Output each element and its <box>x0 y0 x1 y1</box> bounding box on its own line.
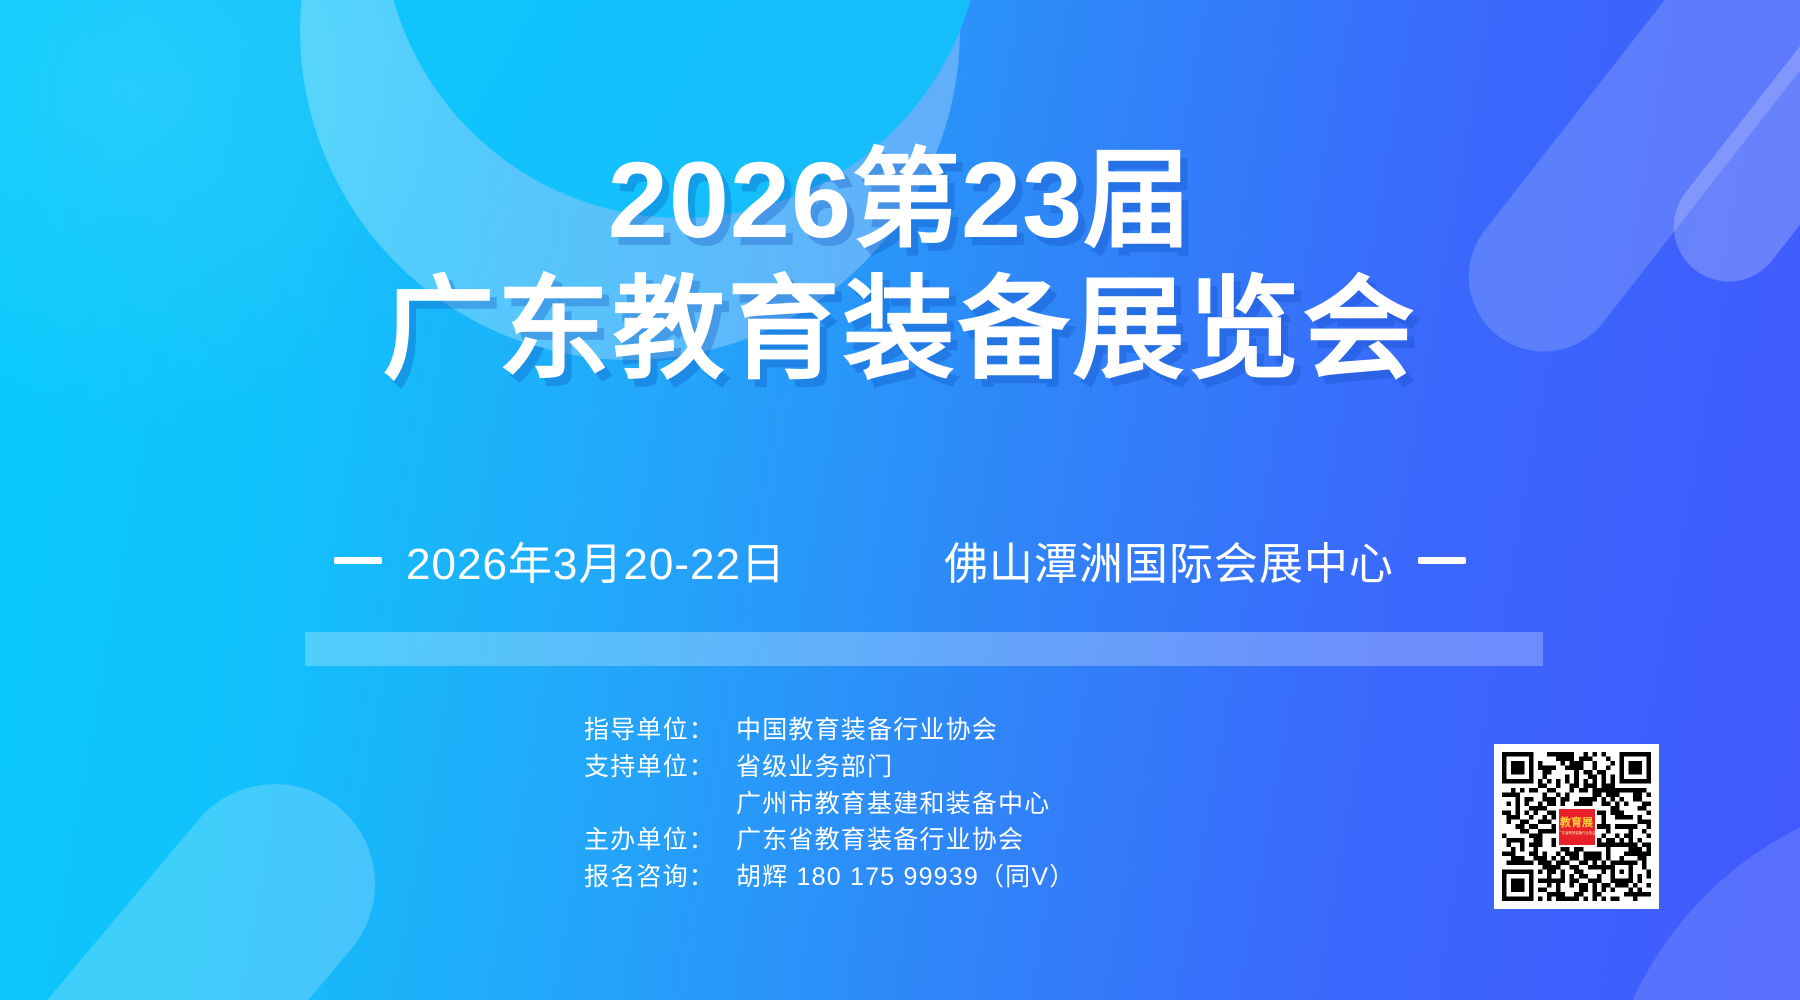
info-row-contact: 报名咨询： 胡辉 180 175 99939（同V） <box>584 859 1075 896</box>
qr-code[interactable]: 教育展 广东省教育装备行业协会 <box>1494 744 1659 909</box>
event-venue: 佛山潭洲国际会展中心 <box>944 528 1394 592</box>
info-label-host: 主办单位： <box>584 822 736 859</box>
info-label-contact: 报名咨询： <box>584 859 736 896</box>
dash-left-decoration <box>334 557 382 564</box>
accent-bar-decoration <box>305 632 1543 666</box>
info-value-guidance: 中国教育装备行业协会 <box>736 712 998 749</box>
organizer-info-block: 指导单位： 中国教育装备行业协会 支持单位： 省级业务部门 广州市教育基建和装备… <box>584 712 1075 896</box>
qr-logo-text: 教育展 <box>1560 818 1593 829</box>
info-row-guidance: 指导单位： 中国教育装备行业协会 <box>584 712 1075 749</box>
info-value-support: 省级业务部门 <box>736 749 893 786</box>
title-line-edition: 2026第23届 <box>0 140 1800 261</box>
info-label-support: 支持单位： <box>584 749 736 786</box>
promo-banner: 2026第23届 广东教育装备展览会 2026年3月20-22日 佛山潭洲国际会… <box>0 0 1800 1000</box>
info-value-contact: 胡辉 180 175 99939（同V） <box>736 859 1075 896</box>
info-label-guidance: 指导单位： <box>584 712 736 749</box>
info-row-support-secondary: 广州市教育基建和装备中心 <box>584 786 1075 823</box>
page-title: 2026第23届 广东教育装备展览会 <box>0 140 1800 392</box>
qr-center-logo: 教育展 广东省教育装备行业协会 <box>1557 807 1597 847</box>
event-date: 2026年3月20-22日 <box>406 528 786 592</box>
title-line-event-name: 广东教育装备展览会 <box>0 267 1800 392</box>
event-meta-row: 2026年3月20-22日 佛山潭洲国际会展中心 <box>0 528 1800 592</box>
info-row-host: 主办单位： 广东省教育装备行业协会 <box>584 822 1075 859</box>
banner-content: 2026第23届 广东教育装备展览会 2026年3月20-22日 佛山潭洲国际会… <box>0 0 1800 1000</box>
qr-code-canvas: 教育展 广东省教育装备行业协会 <box>1502 752 1651 901</box>
info-value-host: 广东省教育装备行业协会 <box>736 822 1024 859</box>
dash-right-decoration <box>1418 557 1466 564</box>
info-value-support-secondary: 广州市教育基建和装备中心 <box>736 786 1050 823</box>
info-row-support: 支持单位： 省级业务部门 <box>584 749 1075 786</box>
qr-logo-subtext: 广东省教育装备行业协会 <box>1558 831 1595 835</box>
